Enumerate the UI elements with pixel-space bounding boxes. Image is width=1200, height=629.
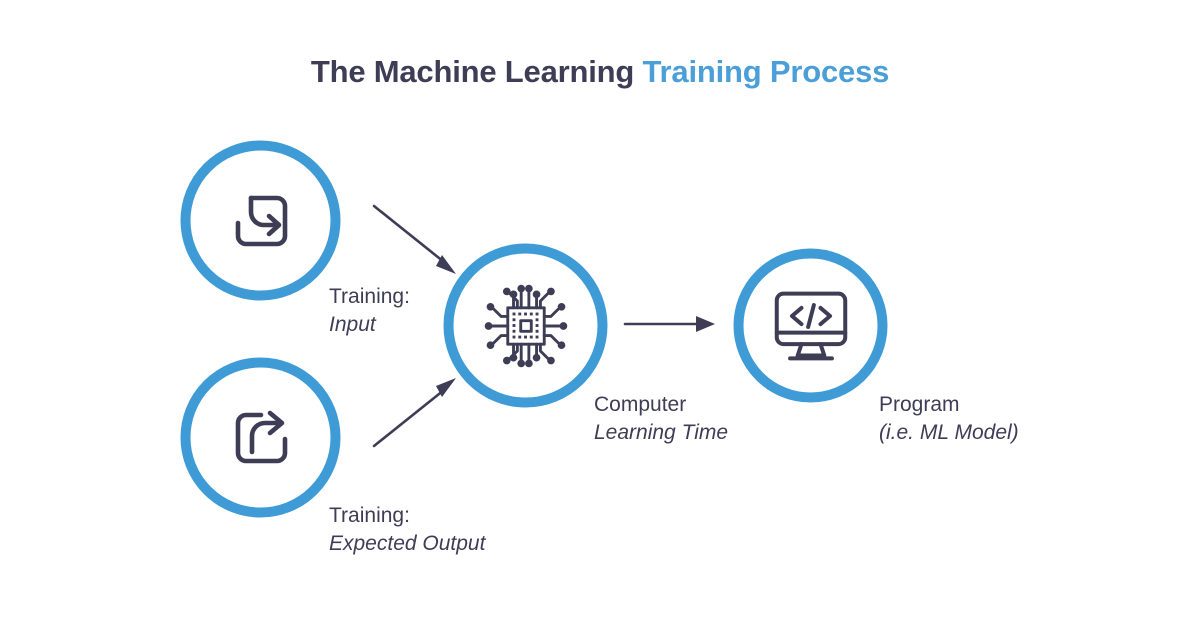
node-training-input[interactable] [180, 140, 341, 301]
page-title-plain: The Machine Learning [311, 54, 643, 89]
label-line-2: Expected Output [329, 530, 485, 558]
page-title: The Machine Learning Training Process [0, 54, 1200, 90]
label-line-2: (i.e. ML Model) [879, 419, 1019, 447]
node-training-expected-output[interactable] [180, 357, 341, 518]
label-line-2: Learning Time [594, 419, 728, 447]
label-line-1: Computer [594, 391, 728, 419]
cpu-chip-icon [478, 278, 574, 374]
label-training-expected-output: Training: Expected Output [329, 502, 485, 557]
label-computer: Computer Learning Time [594, 391, 728, 446]
arrow-input-to-computer [368, 200, 468, 282]
label-line-1: Training: [329, 283, 410, 311]
label-line-1: Program [879, 391, 1019, 419]
page-title-accent: Training Process [643, 54, 890, 89]
label-line-1: Training: [329, 502, 485, 530]
arrow-computer-to-program [620, 305, 720, 343]
export-arrow-icon [225, 402, 297, 474]
label-line-2: Input [329, 311, 410, 339]
label-program: Program (i.e. ML Model) [879, 391, 1019, 446]
diagram-canvas: The Machine Learning Training Process Tr… [0, 0, 1200, 629]
label-training-input: Training: Input [329, 283, 410, 338]
import-arrow-icon [225, 185, 297, 257]
node-program[interactable] [733, 248, 888, 403]
monitor-code-icon [769, 287, 853, 365]
arrow-expected-output-to-computer [368, 370, 468, 452]
